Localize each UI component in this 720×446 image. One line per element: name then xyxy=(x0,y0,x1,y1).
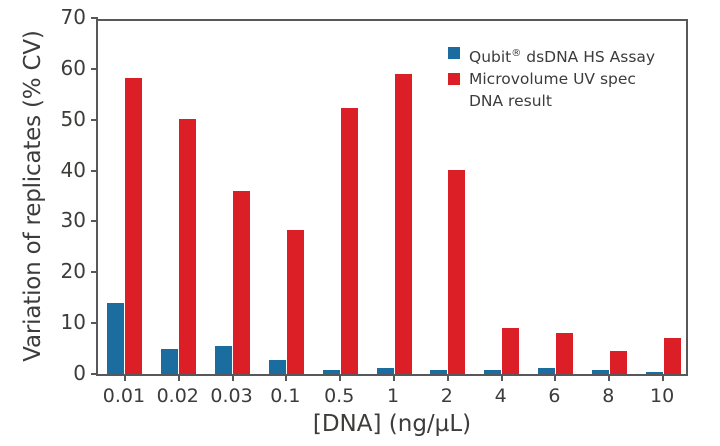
x-tick-mark xyxy=(393,374,395,381)
bar-uvspec-8 xyxy=(610,351,627,374)
y-tick-label: 20 xyxy=(26,259,86,283)
legend-label-uvspec-continuation: DNA result xyxy=(469,92,655,111)
bar-qubit-6 xyxy=(538,368,555,374)
y-tick-label: 0 xyxy=(26,361,86,385)
x-tick-mark xyxy=(339,374,341,381)
y-tick-label: 70 xyxy=(26,5,86,29)
bar-qubit-8 xyxy=(592,370,609,374)
x-tick-mark xyxy=(662,374,664,381)
y-tick-mark xyxy=(91,373,98,375)
y-tick-label: 60 xyxy=(26,56,86,80)
y-tick-label: 50 xyxy=(26,107,86,131)
x-tick-mark xyxy=(232,374,234,381)
bar-uvspec-0.02 xyxy=(179,119,196,374)
bar-qubit-2 xyxy=(430,370,447,374)
legend-swatch-blue-icon xyxy=(448,47,460,59)
y-tick-label: 40 xyxy=(26,158,86,182)
x-tick-mark xyxy=(178,374,180,381)
bar-uvspec-1 xyxy=(395,74,412,374)
legend-label-uvspec: Microvolume UV spec xyxy=(469,70,636,89)
y-tick-mark xyxy=(91,68,98,70)
bar-uvspec-0.01 xyxy=(125,78,142,374)
x-tick-mark xyxy=(124,374,126,381)
legend-item-qubit: Qubit® dsDNA HS Assay xyxy=(448,44,655,67)
y-tick-mark xyxy=(91,17,98,19)
y-tick-label: 30 xyxy=(26,208,86,232)
bar-qubit-10 xyxy=(646,372,663,374)
chart-legend: Qubit® dsDNA HS Assay Microvolume UV spe… xyxy=(448,44,655,111)
registered-mark-icon: ® xyxy=(511,48,521,59)
y-tick-mark xyxy=(91,170,98,172)
bar-uvspec-0.5 xyxy=(341,108,358,374)
legend-label-qubit-pre: Qubit xyxy=(469,48,511,66)
x-tick-mark xyxy=(285,374,287,381)
y-tick-mark xyxy=(91,119,98,121)
legend-label-qubit-post: dsDNA HS Assay xyxy=(521,48,655,66)
x-tick-label: 10 xyxy=(627,385,697,407)
bar-uvspec-10 xyxy=(664,338,681,374)
bar-qubit-0.5 xyxy=(323,370,340,374)
y-tick-mark xyxy=(91,271,98,273)
legend-item-uvspec: Microvolume UV spec xyxy=(448,70,655,89)
x-tick-mark xyxy=(447,374,449,381)
bar-qubit-0.1 xyxy=(269,360,286,374)
y-tick-mark xyxy=(91,220,98,222)
x-tick-mark xyxy=(608,374,610,381)
bar-qubit-0.01 xyxy=(107,303,124,374)
bar-uvspec-0.03 xyxy=(233,191,250,374)
bar-qubit-1 xyxy=(377,368,394,374)
legend-swatch-red-icon xyxy=(448,73,460,85)
y-tick-mark xyxy=(91,322,98,324)
bar-qubit-0.02 xyxy=(161,349,178,374)
chart-container: Variation of replicates (% CV) 010203040… xyxy=(0,0,720,446)
bar-uvspec-2 xyxy=(448,170,465,374)
x-tick-mark xyxy=(501,374,503,381)
legend-label-qubit: Qubit® dsDNA HS Assay xyxy=(469,44,655,67)
bar-uvspec-4 xyxy=(502,328,519,374)
bar-qubit-4 xyxy=(484,370,501,374)
x-tick-mark xyxy=(554,374,556,381)
x-axis-title: [DNA] (ng/µL) xyxy=(96,411,688,437)
bar-uvspec-0.1 xyxy=(287,230,304,374)
bar-qubit-0.03 xyxy=(215,346,232,374)
y-tick-label: 10 xyxy=(26,310,86,334)
bar-uvspec-6 xyxy=(556,333,573,374)
